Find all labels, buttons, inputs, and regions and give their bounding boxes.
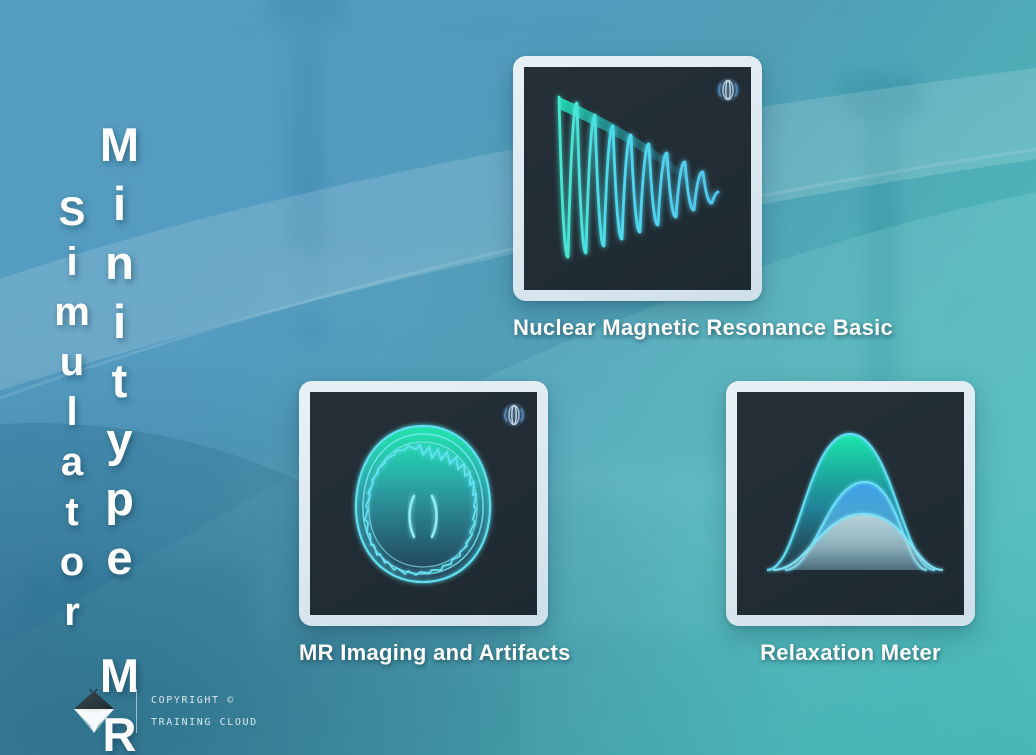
module-label-mr-imaging: MR Imaging and Artifacts (299, 640, 548, 666)
app-title-line-1: Minitype MRI (96, 118, 143, 755)
nmr-spin-badge-icon (500, 401, 528, 429)
module-card-mr-imaging[interactable]: MR Imaging and Artifacts (299, 381, 548, 666)
app-root: Minitype MRI Simulator (0, 0, 1036, 755)
card-frame (299, 381, 548, 626)
nmr-spin-badge-icon (714, 76, 742, 104)
footer-divider (136, 689, 137, 733)
card-thumbnail-brain (310, 392, 537, 615)
module-card-relaxation-meter[interactable]: Relaxation Meter (726, 381, 975, 666)
card-frame (513, 56, 762, 301)
footer-organization: TRAINING CLOUD (151, 717, 258, 728)
module-label-relaxation-meter: Relaxation Meter (726, 640, 975, 666)
app-title-line-2: Simulator (52, 190, 92, 640)
app-title: Minitype MRI Simulator (52, 118, 143, 755)
footer-copyright: COPYRIGHT © (151, 695, 258, 706)
card-thumbnail-fid (524, 67, 751, 290)
footer: COPYRIGHT © TRAINING CLOUD (66, 683, 258, 739)
module-label-nmr-basic: Nuclear Magnetic Resonance Basic (513, 315, 762, 341)
module-card-nmr-basic[interactable]: Nuclear Magnetic Resonance Basic (513, 56, 762, 341)
card-thumbnail-relaxation-curves (737, 392, 964, 615)
card-frame (726, 381, 975, 626)
diamond-prism-logo (66, 683, 122, 739)
